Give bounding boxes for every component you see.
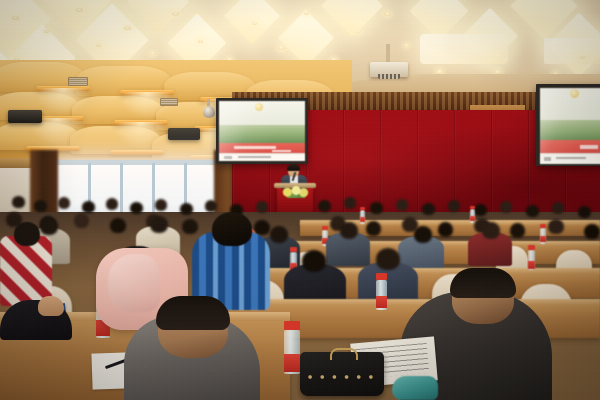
audience-head bbox=[14, 222, 40, 246]
argyle-sweater-attendee bbox=[0, 236, 52, 306]
main-projection-screen bbox=[219, 101, 305, 161]
screen-glare bbox=[540, 88, 600, 164]
dome-camera-icon bbox=[203, 106, 215, 118]
audience-head bbox=[366, 221, 381, 236]
audience-head bbox=[344, 197, 356, 209]
bottle-label bbox=[470, 216, 475, 221]
ceiling-downlight bbox=[172, 12, 179, 16]
audience-head bbox=[270, 226, 288, 243]
audience-head bbox=[370, 202, 383, 214]
table-top-edge bbox=[228, 299, 600, 306]
audience-head bbox=[256, 201, 268, 213]
ceiling-downlight bbox=[150, 52, 155, 55]
audience-head bbox=[500, 201, 512, 213]
attendee-hair-foreground bbox=[450, 268, 516, 298]
audience-head bbox=[548, 219, 564, 234]
bottle-label bbox=[360, 217, 365, 222]
bottle-cap bbox=[284, 321, 300, 330]
ceiling-downlight bbox=[580, 56, 585, 59]
handbag-handle bbox=[330, 348, 358, 360]
projector-mount-icon bbox=[386, 44, 390, 64]
audience-head bbox=[12, 196, 25, 208]
bottle-cap bbox=[470, 206, 475, 209]
audience-head bbox=[526, 205, 539, 217]
audience-head bbox=[422, 203, 435, 215]
floral-arrangement bbox=[281, 185, 310, 198]
pink-coat-fold bbox=[108, 254, 160, 312]
secondary-projection-screen bbox=[540, 88, 600, 164]
audience-head bbox=[205, 200, 217, 212]
ceiling-downlight bbox=[44, 30, 49, 33]
audience-head bbox=[155, 199, 167, 211]
audience-head bbox=[150, 216, 168, 233]
handbag-studs bbox=[304, 370, 380, 384]
ceiling-downlight bbox=[198, 40, 203, 43]
ceiling-downlight bbox=[12, 16, 19, 20]
ceiling-downlight bbox=[356, 30, 361, 33]
audience-head bbox=[130, 202, 143, 214]
ceiling-downlight bbox=[304, 12, 309, 15]
ceiling-downlight bbox=[96, 44, 101, 47]
bottle-cap bbox=[540, 224, 546, 228]
audience-head bbox=[448, 200, 460, 212]
audience-head bbox=[182, 219, 198, 234]
wood-shelf-ledge bbox=[36, 86, 90, 91]
audience-head bbox=[180, 203, 193, 215]
audience-head bbox=[74, 213, 89, 228]
audience-head bbox=[474, 204, 487, 216]
audience-head bbox=[212, 212, 252, 246]
conference-hall-photograph: Conference hall with audience and presen… bbox=[0, 0, 600, 400]
ceiling-downlight bbox=[278, 46, 285, 50]
teal-item bbox=[392, 376, 438, 400]
bottle-cap bbox=[528, 245, 535, 250]
air-vent bbox=[160, 98, 178, 106]
audience-head bbox=[414, 226, 432, 243]
window-header bbox=[56, 160, 222, 165]
bottle-cap bbox=[360, 207, 365, 210]
audience-head bbox=[110, 218, 126, 233]
audience-head bbox=[318, 200, 331, 212]
wall-speaker bbox=[168, 128, 200, 140]
audience-head bbox=[438, 222, 453, 237]
bottle-label bbox=[528, 261, 535, 269]
projector-lens-icon bbox=[378, 74, 400, 79]
bottle-cap bbox=[322, 226, 328, 230]
audience-head bbox=[302, 250, 326, 272]
audience-head bbox=[552, 202, 564, 214]
wood-shelf-ledge bbox=[110, 150, 164, 155]
audience-head bbox=[482, 222, 500, 239]
audience-head bbox=[340, 222, 358, 239]
wood-shelf-ledge bbox=[114, 120, 168, 125]
wood-shelf-ledge bbox=[120, 90, 174, 95]
air-vent bbox=[68, 77, 88, 86]
presenter-hair bbox=[287, 164, 300, 171]
audience-head bbox=[58, 197, 70, 209]
ceiling-downlight bbox=[124, 26, 131, 30]
bottle-label bbox=[284, 354, 300, 372]
audience-head bbox=[106, 198, 118, 210]
bottle-cap bbox=[290, 247, 297, 252]
audience-head bbox=[578, 206, 591, 218]
ceiling-downlight bbox=[404, 44, 409, 47]
ceiling-downlight bbox=[384, 12, 391, 16]
audience-head bbox=[34, 200, 47, 212]
wall-speaker bbox=[8, 110, 42, 123]
ceiling-light-panel bbox=[420, 34, 508, 64]
audience-head bbox=[376, 248, 400, 270]
attendee-hair-foreground bbox=[156, 296, 230, 330]
audience-head bbox=[396, 199, 408, 211]
bottle-label bbox=[376, 296, 387, 308]
audience-head bbox=[510, 223, 525, 238]
ceiling-downlight bbox=[252, 22, 257, 25]
audience-head bbox=[82, 201, 95, 213]
bottle-cap bbox=[376, 273, 387, 280]
ceiling-downlight bbox=[76, 8, 83, 12]
attendee-hand bbox=[38, 296, 64, 316]
audience-head bbox=[584, 224, 600, 239]
bottle-label bbox=[540, 236, 546, 242]
ceiling-light-panel bbox=[544, 38, 600, 64]
audience-head bbox=[40, 218, 58, 235]
screen-glare bbox=[219, 101, 305, 161]
